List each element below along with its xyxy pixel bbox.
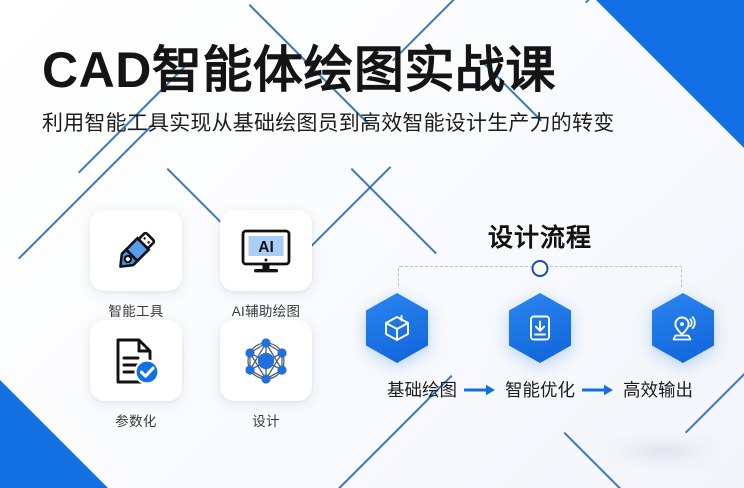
header: CAD智能体绘图实战课 利用智能工具实现从基础绘图员到高效智能设计生产力的转变: [42, 44, 614, 137]
flow-title: 设计流程: [360, 218, 720, 254]
page-title: CAD智能体绘图实战课: [42, 44, 614, 97]
poster-canvas: CAD智能体绘图实战课 利用智能工具实现从基础绘图员到高效智能设计生产力的转变 …: [0, 0, 744, 488]
feature-card-design[interactable]: 设计: [220, 320, 312, 430]
feature-card-label: 参数化: [115, 410, 156, 430]
arrow-right-icon: [582, 383, 616, 397]
feature-card-icon-box: [90, 320, 182, 401]
svg-text:AI: AI: [258, 239, 274, 256]
network-nodes-icon: [239, 335, 293, 387]
diagonal-line: [585, 0, 692, 3]
pen-icon: [110, 225, 162, 277]
feature-card-smart-tools[interactable]: 智能工具: [90, 210, 182, 320]
feature-card-label: 智能工具: [108, 300, 163, 320]
feature-card-icon-box: [220, 320, 312, 401]
feature-card-grid: 智能工具 AI AI辅助绘图: [90, 210, 350, 430]
flow-bracket: [398, 266, 682, 289]
flow-step-label-efficient-output: 高效输出: [623, 377, 693, 402]
design-flow-section: 设计流程: [360, 218, 720, 402]
feature-card-ai-drawing[interactable]: AI AI辅助绘图: [220, 210, 312, 320]
document-download-icon: [525, 313, 555, 343]
flow-step-label-smart-optimize: 智能优化: [505, 377, 575, 402]
location-pin-icon: [668, 313, 698, 343]
cube-3d-icon: [382, 313, 412, 343]
feature-card-label: AI辅助绘图: [232, 300, 301, 320]
feature-card-parametric[interactable]: 参数化: [90, 320, 182, 430]
flow-hexagon-row: [360, 293, 720, 363]
document-check-icon: [109, 335, 163, 387]
flow-bracket-dot-icon: [532, 260, 549, 277]
feature-card-icon-box: [90, 210, 182, 291]
flow-step-icon-basic-drawing[interactable]: [366, 293, 428, 363]
flow-step-label-basic-drawing: 基础绘图: [387, 377, 457, 402]
monitor-ai-icon: AI: [238, 225, 294, 277]
corner-triangle-top-right: [594, 0, 744, 150]
feature-card-icon-box: AI: [220, 210, 312, 291]
arrow-right-icon: [464, 383, 498, 397]
watermark: [608, 436, 718, 466]
flow-step-labels: 基础绘图 智能优化 高效输出: [360, 377, 720, 402]
flow-step-icon-efficient-output[interactable]: [652, 293, 714, 363]
feature-card-label: 设计: [252, 410, 280, 430]
page-subtitle: 利用智能工具实现从基础绘图员到高效智能设计生产力的转变: [42, 107, 614, 137]
flow-step-icon-smart-optimize[interactable]: [509, 293, 571, 363]
diagonal-line: [564, 432, 650, 488]
